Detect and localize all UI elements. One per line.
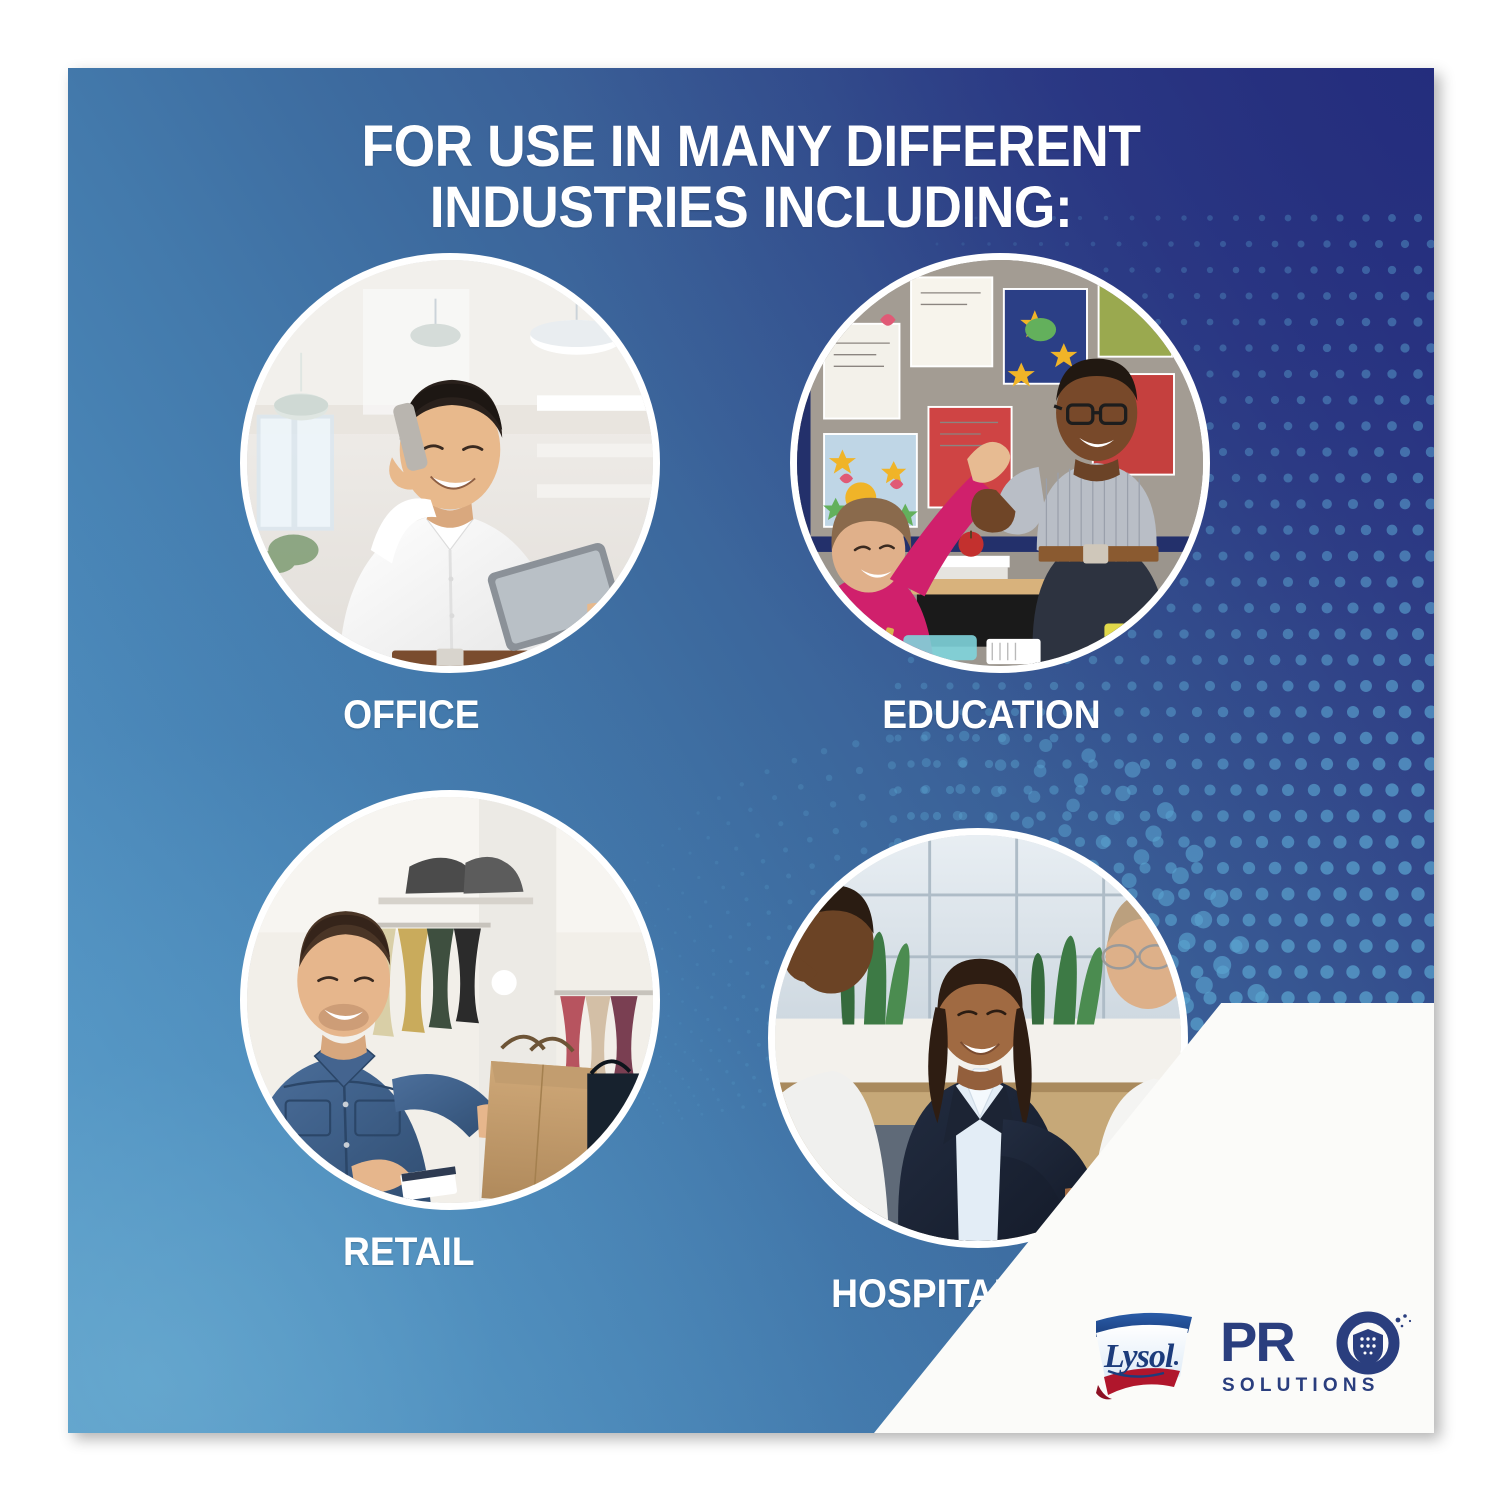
industry-card-office: OFFICE — [240, 253, 660, 673]
poster-panel: FOR USE IN MANY DIFFERENT INDUSTRIES INC… — [68, 68, 1434, 1433]
lysol-logo: Lysol — [1084, 1305, 1204, 1409]
pro-shield-o-icon — [1342, 1314, 1411, 1369]
office-scene-illustration — [247, 260, 653, 666]
page-title: FOR USE IN MANY DIFFERENT INDUSTRIES INC… — [123, 116, 1380, 239]
education-scene-illustration — [797, 260, 1203, 666]
industry-label-education: EDUCATION — [882, 693, 1100, 738]
solutions-wordmark: SOLUTIONS — [1222, 1375, 1380, 1396]
industry-photo-education — [790, 253, 1210, 673]
industry-card-education: EDUCATION — [790, 253, 1210, 673]
brand-logo-group: Lysol PR — [1084, 1305, 1416, 1409]
pro-wordmark: PR — [1220, 1311, 1295, 1373]
industry-photo-office — [240, 253, 660, 673]
poster-canvas: FOR USE IN MANY DIFFERENT INDUSTRIES INC… — [0, 0, 1500, 1500]
pro-solutions-logo: PR SOLUTIO — [1220, 1311, 1416, 1403]
svg-text:Lysol: Lysol — [1103, 1338, 1175, 1375]
industry-label-office: OFFICE — [343, 693, 479, 738]
industry-photo-retail — [240, 790, 660, 1210]
industry-label-retail: RETAIL — [343, 1230, 475, 1275]
retail-scene-illustration — [247, 797, 653, 1203]
industry-card-retail: RETAIL — [240, 790, 660, 1210]
